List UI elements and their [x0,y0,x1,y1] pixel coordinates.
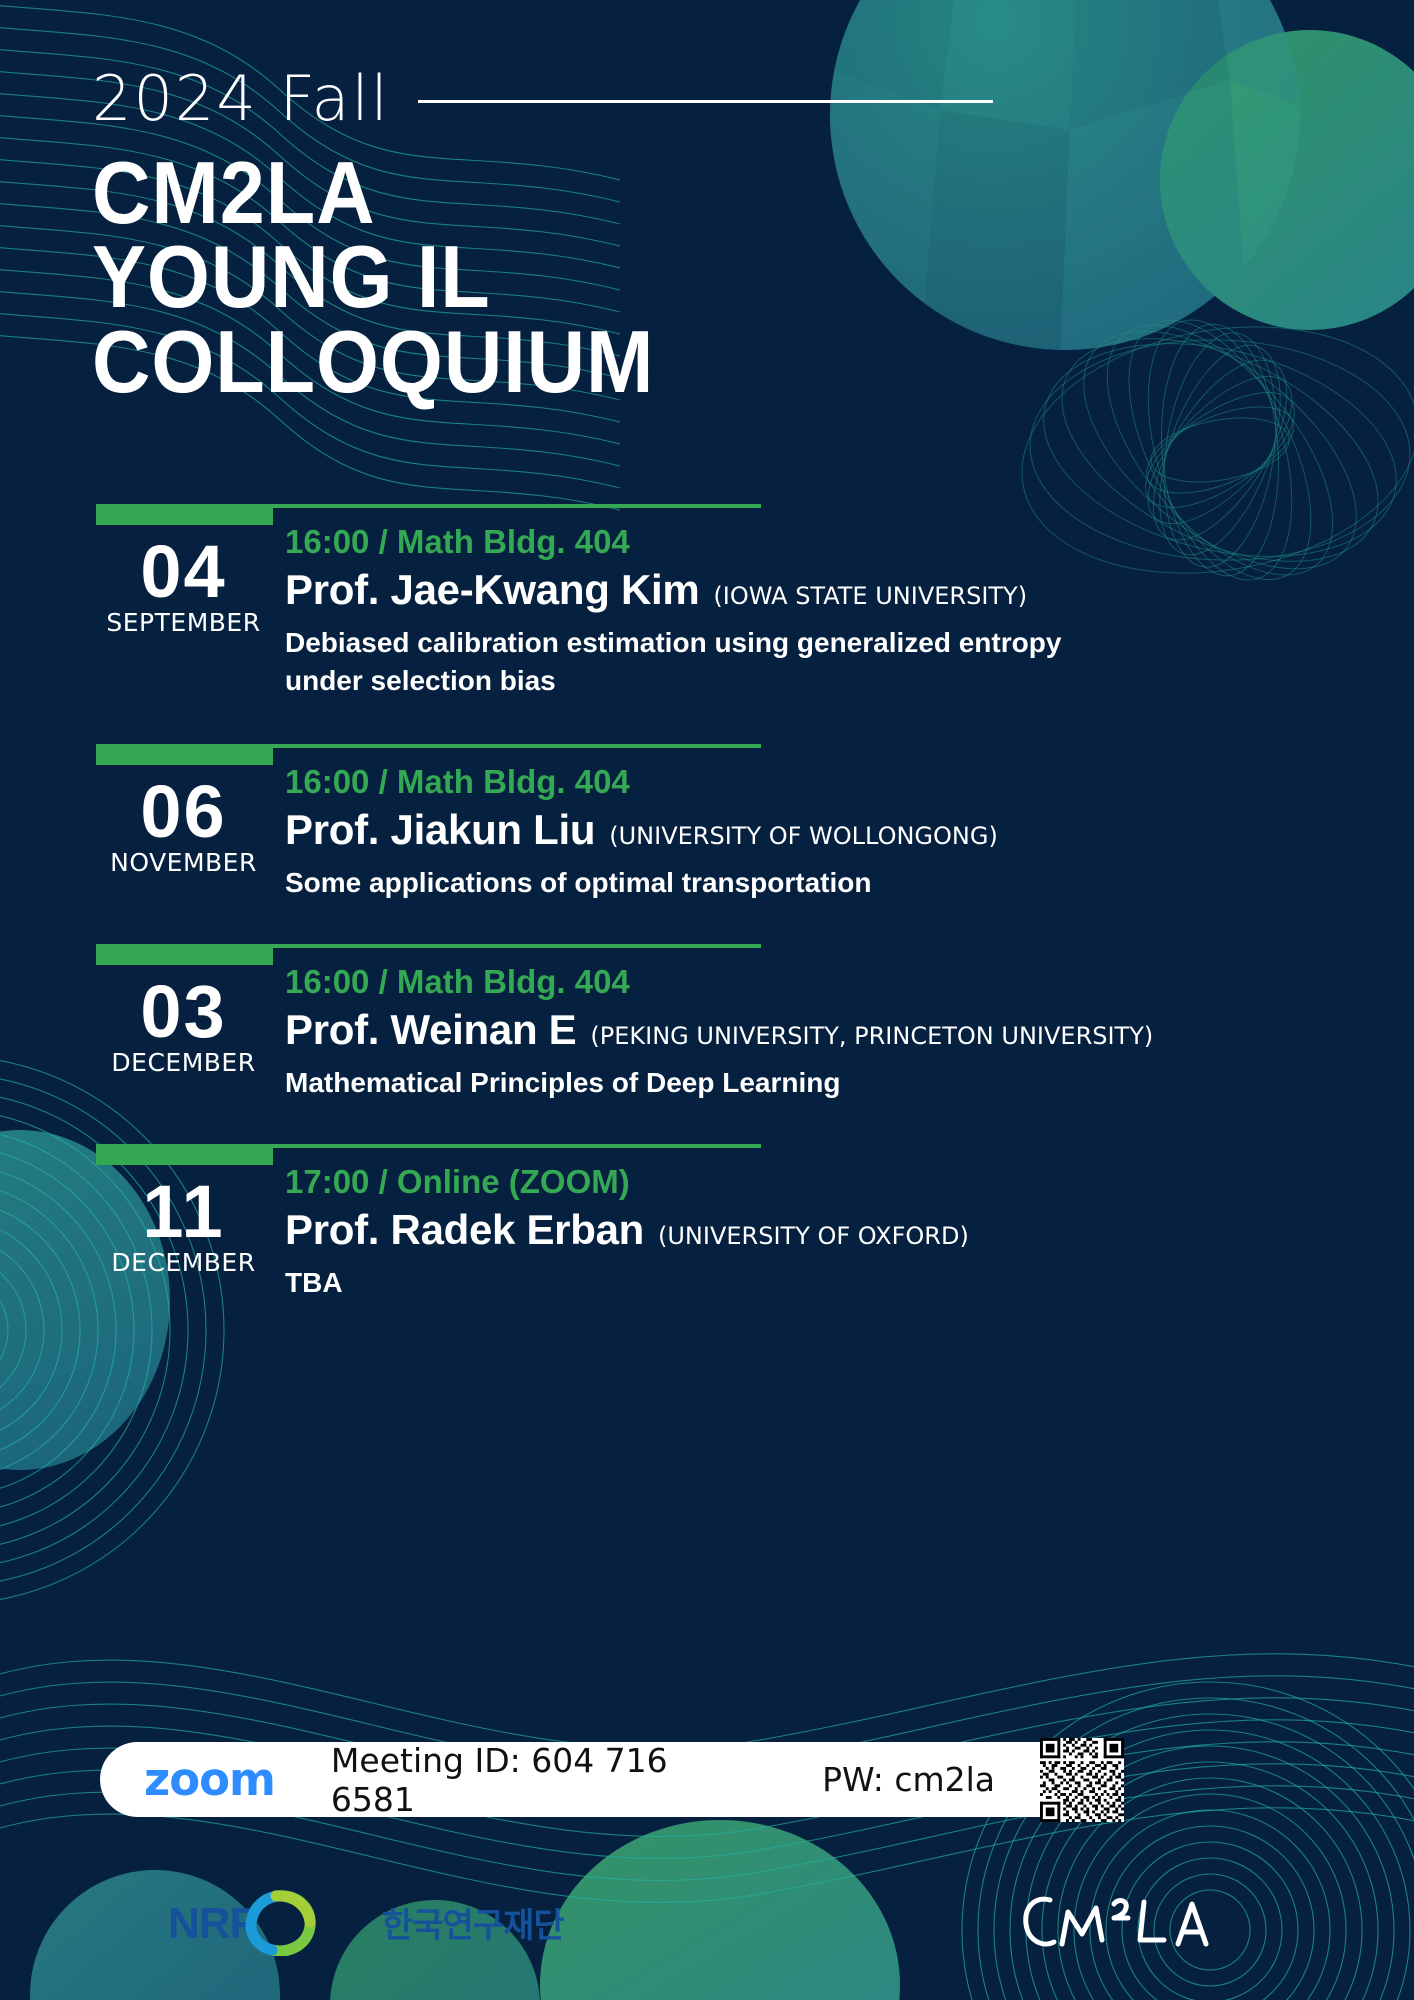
event-accent [96,500,1414,524]
event-talk-title: Debiased calibration estimation using ge… [285,624,1115,700]
event-info: 17:00 / Online (ZOOM) Prof. Radek Erban … [271,1164,1414,1302]
accent-line [273,504,761,508]
title-line-2: YOUNG IL [92,235,1224,319]
event-month: NOVEMBER [96,848,271,877]
zoom-info-bar[interactable]: zoom Meeting ID: 604 716 6581 PW: cm2la [100,1742,1124,1817]
event-day: 11 [96,1178,271,1246]
event-time-venue: 16:00 / Math Bldg. 404 [285,764,1414,800]
event-speaker: Prof. Radek Erban [285,1206,644,1254]
event-talk-title: Mathematical Principles of Deep Learning [285,1064,1115,1102]
event-speaker-row: Prof. Jae-Kwang Kim (IOWA STATE UNIVERSI… [285,566,1414,614]
event-day: 03 [96,978,271,1046]
event-day: 04 [96,538,271,606]
nrf-korean-label: 한국연구재단 [382,1898,564,1947]
event-affiliation: (PEKING UNIVERSITY, PRINCETON UNIVERSITY… [590,1022,1153,1050]
nrf-mark-icon: NRF [168,1888,368,1956]
accent-block [96,944,273,965]
event-list: 04 SEPTEMBER 16:00 / Math Bldg. 404 Prof… [0,500,1414,1326]
event-info: 16:00 / Math Bldg. 404 Prof. Jiakun Liu … [271,764,1414,902]
year-label: 2024 Fall [92,62,390,135]
zoom-meeting-id: Meeting ID: 604 716 6581 [331,1741,762,1819]
event-affiliation: (UNIVERSITY OF WOLLONGONG) [609,822,998,850]
event-info: 16:00 / Math Bldg. 404 Prof. Weinan E (P… [271,964,1414,1102]
poster-canvas: 2024 Fall CM2LA YOUNG IL COLLOQUIUM 04 S… [0,0,1414,2000]
event-talk-title: TBA [285,1264,1115,1302]
page-title: CM2LA YOUNG IL COLLOQUIUM [92,151,1224,404]
event-accent [96,1140,1414,1164]
event-accent [96,740,1414,764]
event-affiliation: (IOWA STATE UNIVERSITY) [713,582,1027,610]
accent-block [96,744,273,765]
event-time-venue: 16:00 / Math Bldg. 404 [285,964,1414,1000]
title-line-1: CM2LA [92,151,1224,235]
qr-code-icon[interactable] [1040,1738,1124,1822]
event-month: DECEMBER [96,1248,271,1277]
event-speaker-row: Prof. Weinan E (PEKING UNIVERSITY, PRINC… [285,1006,1414,1054]
accent-line [273,744,761,748]
event-talk-title: Some applications of optimal transportat… [285,864,1115,902]
accent-block [96,504,273,525]
event-day: 06 [96,778,271,846]
event-date: 04 SEPTEMBER [96,524,271,700]
title-line-3: COLLOQUIUM [92,320,1224,404]
green-circle-bottom [540,1820,900,2000]
event-time-venue: 16:00 / Math Bldg. 404 [285,524,1414,560]
accent-line [273,944,761,948]
nrf-logo: NRF 한국연구재단 [168,1888,564,1956]
event-date: 03 DECEMBER [96,964,271,1102]
event-speaker: Prof. Jiakun Liu [285,806,595,854]
event-speaker: Prof. Weinan E [285,1006,576,1054]
poster-header: 2024 Fall CM2LA YOUNG IL COLLOQUIUM [92,62,1322,404]
year-row: 2024 Fall [92,62,1322,135]
event-item: 03 DECEMBER 16:00 / Math Bldg. 404 Prof.… [0,940,1414,1102]
event-info: 16:00 / Math Bldg. 404 Prof. Jae-Kwang K… [271,524,1414,700]
event-date: 06 NOVEMBER [96,764,271,902]
zoom-logo: zoom [144,1753,275,1806]
header-rule [418,100,993,103]
event-item: 11 DECEMBER 17:00 / Online (ZOOM) Prof. … [0,1140,1414,1302]
zoom-password: PW: cm2la [822,1760,995,1799]
event-month: SEPTEMBER [96,608,271,637]
event-affiliation: (UNIVERSITY OF OXFORD) [658,1222,969,1250]
event-speaker-row: Prof. Radek Erban (UNIVERSITY OF OXFORD) [285,1206,1414,1254]
event-speaker-row: Prof. Jiakun Liu (UNIVERSITY OF WOLLONGO… [285,806,1414,854]
event-time-venue: 17:00 / Online (ZOOM) [285,1164,1414,1200]
event-date: 11 DECEMBER [96,1164,271,1302]
event-month: DECEMBER [96,1048,271,1077]
accent-line [273,1144,761,1148]
cm2la-logo [1010,1878,1230,1968]
event-item: 04 SEPTEMBER 16:00 / Math Bldg. 404 Prof… [0,500,1414,700]
event-speaker: Prof. Jae-Kwang Kim [285,566,699,614]
event-item: 06 NOVEMBER 16:00 / Math Bldg. 404 Prof.… [0,740,1414,902]
accent-block [96,1144,273,1165]
event-accent [96,940,1414,964]
svg-text:NRF: NRF [168,1899,256,1948]
